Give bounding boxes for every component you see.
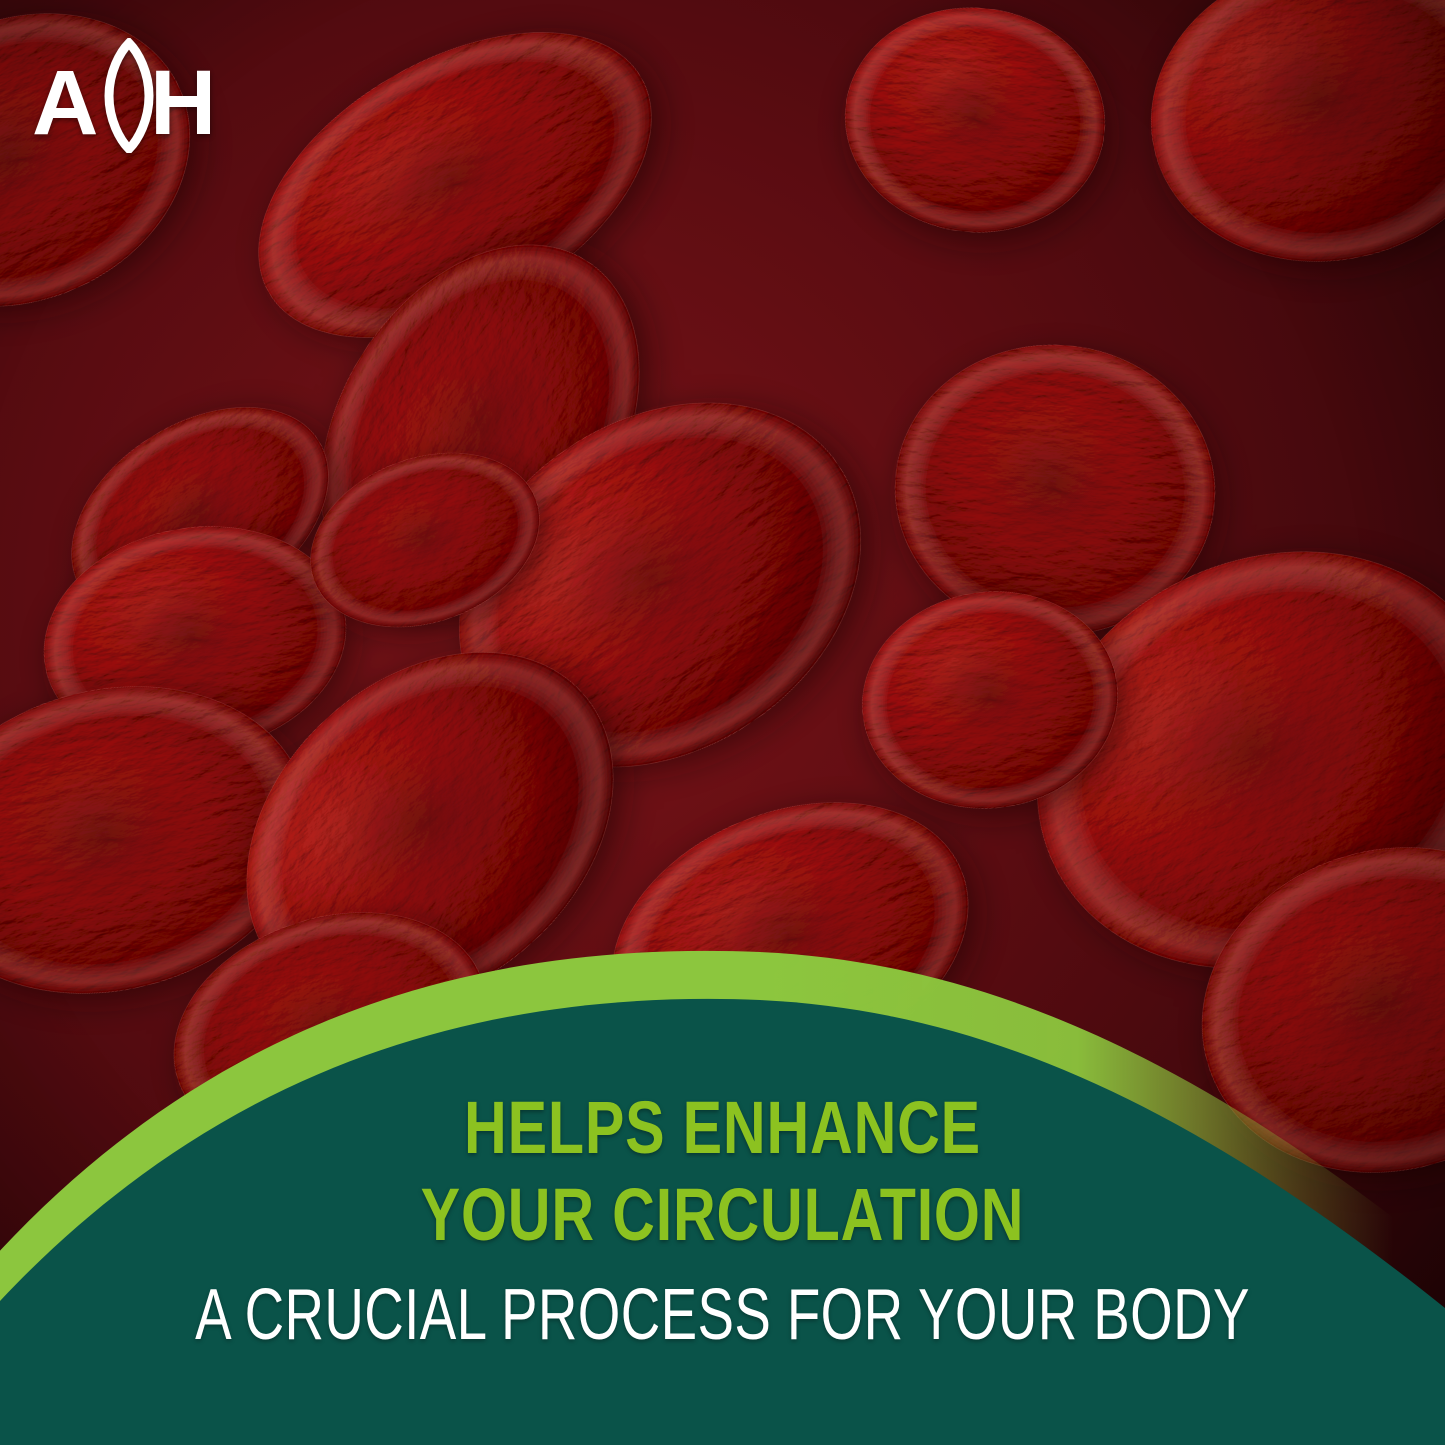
product-marketing-image: A H <box>0 0 1445 1445</box>
brand-logo[interactable]: A H <box>30 38 210 153</box>
leaf-lens-o-icon <box>109 43 149 149</box>
logo-letter-h: H <box>150 52 210 153</box>
logo-letter-a: A <box>32 52 98 153</box>
banner-shape <box>0 900 1445 1445</box>
banner-teal-fill <box>0 999 1445 1445</box>
